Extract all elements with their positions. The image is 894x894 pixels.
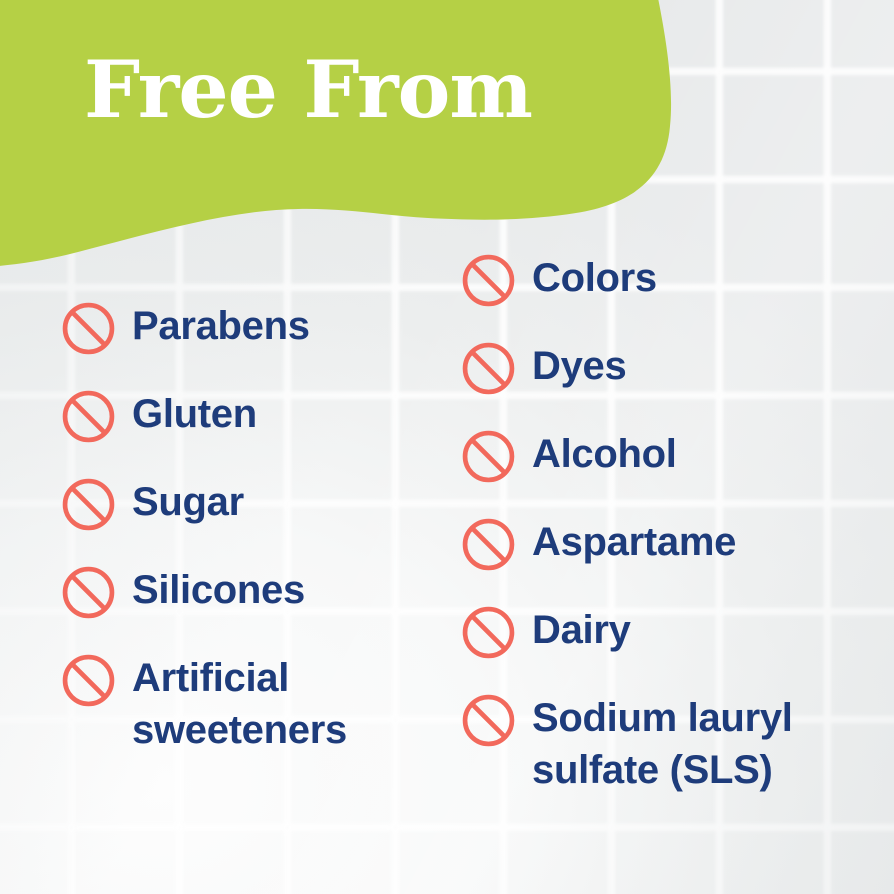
list-item-label: Sodium lauryl sulfate (SLS) <box>532 692 793 796</box>
list-item-label: Parabens <box>132 300 310 352</box>
list-item: Artificial sweeteners <box>62 652 452 756</box>
list-item-label: Silicones <box>132 564 305 616</box>
list-item: Silicones <box>62 564 452 619</box>
list-item-label: Colors <box>532 252 657 304</box>
list-item: Alcohol <box>462 428 882 483</box>
list-item: Gluten <box>62 388 452 443</box>
list-item-label: Dyes <box>532 340 626 392</box>
page-title: Free From <box>84 50 532 129</box>
list-item: Aspartame <box>462 516 882 571</box>
list-item: Sodium lauryl sulfate (SLS) <box>462 692 882 796</box>
list-item: Colors <box>462 252 882 307</box>
list-item: Dairy <box>462 604 882 659</box>
no-entry-icon <box>462 430 515 483</box>
list-item-label: Gluten <box>132 388 257 440</box>
no-entry-icon <box>62 478 115 531</box>
list-item-label: Sugar <box>132 476 244 528</box>
no-entry-icon <box>62 390 115 443</box>
free-from-infographic: Free From Parabens Gluten <box>0 0 894 894</box>
no-entry-icon <box>62 654 115 707</box>
no-entry-icon <box>462 518 515 571</box>
no-entry-icon <box>62 566 115 619</box>
free-from-list-right: Colors Dyes Alcohol <box>462 252 882 829</box>
no-entry-icon <box>462 254 515 307</box>
list-item: Sugar <box>62 476 452 531</box>
list-item-label: Aspartame <box>532 516 736 568</box>
list-item-label: Dairy <box>532 604 631 656</box>
list-item: Dyes <box>462 340 882 395</box>
no-entry-icon <box>462 342 515 395</box>
list-item-label: Alcohol <box>532 428 677 480</box>
list-item-label: Artificial sweeteners <box>132 652 347 756</box>
no-entry-icon <box>462 606 515 659</box>
list-item: Parabens <box>62 300 452 355</box>
no-entry-icon <box>462 694 515 747</box>
no-entry-icon <box>62 302 115 355</box>
free-from-list-left: Parabens Gluten Sugar <box>62 300 452 789</box>
